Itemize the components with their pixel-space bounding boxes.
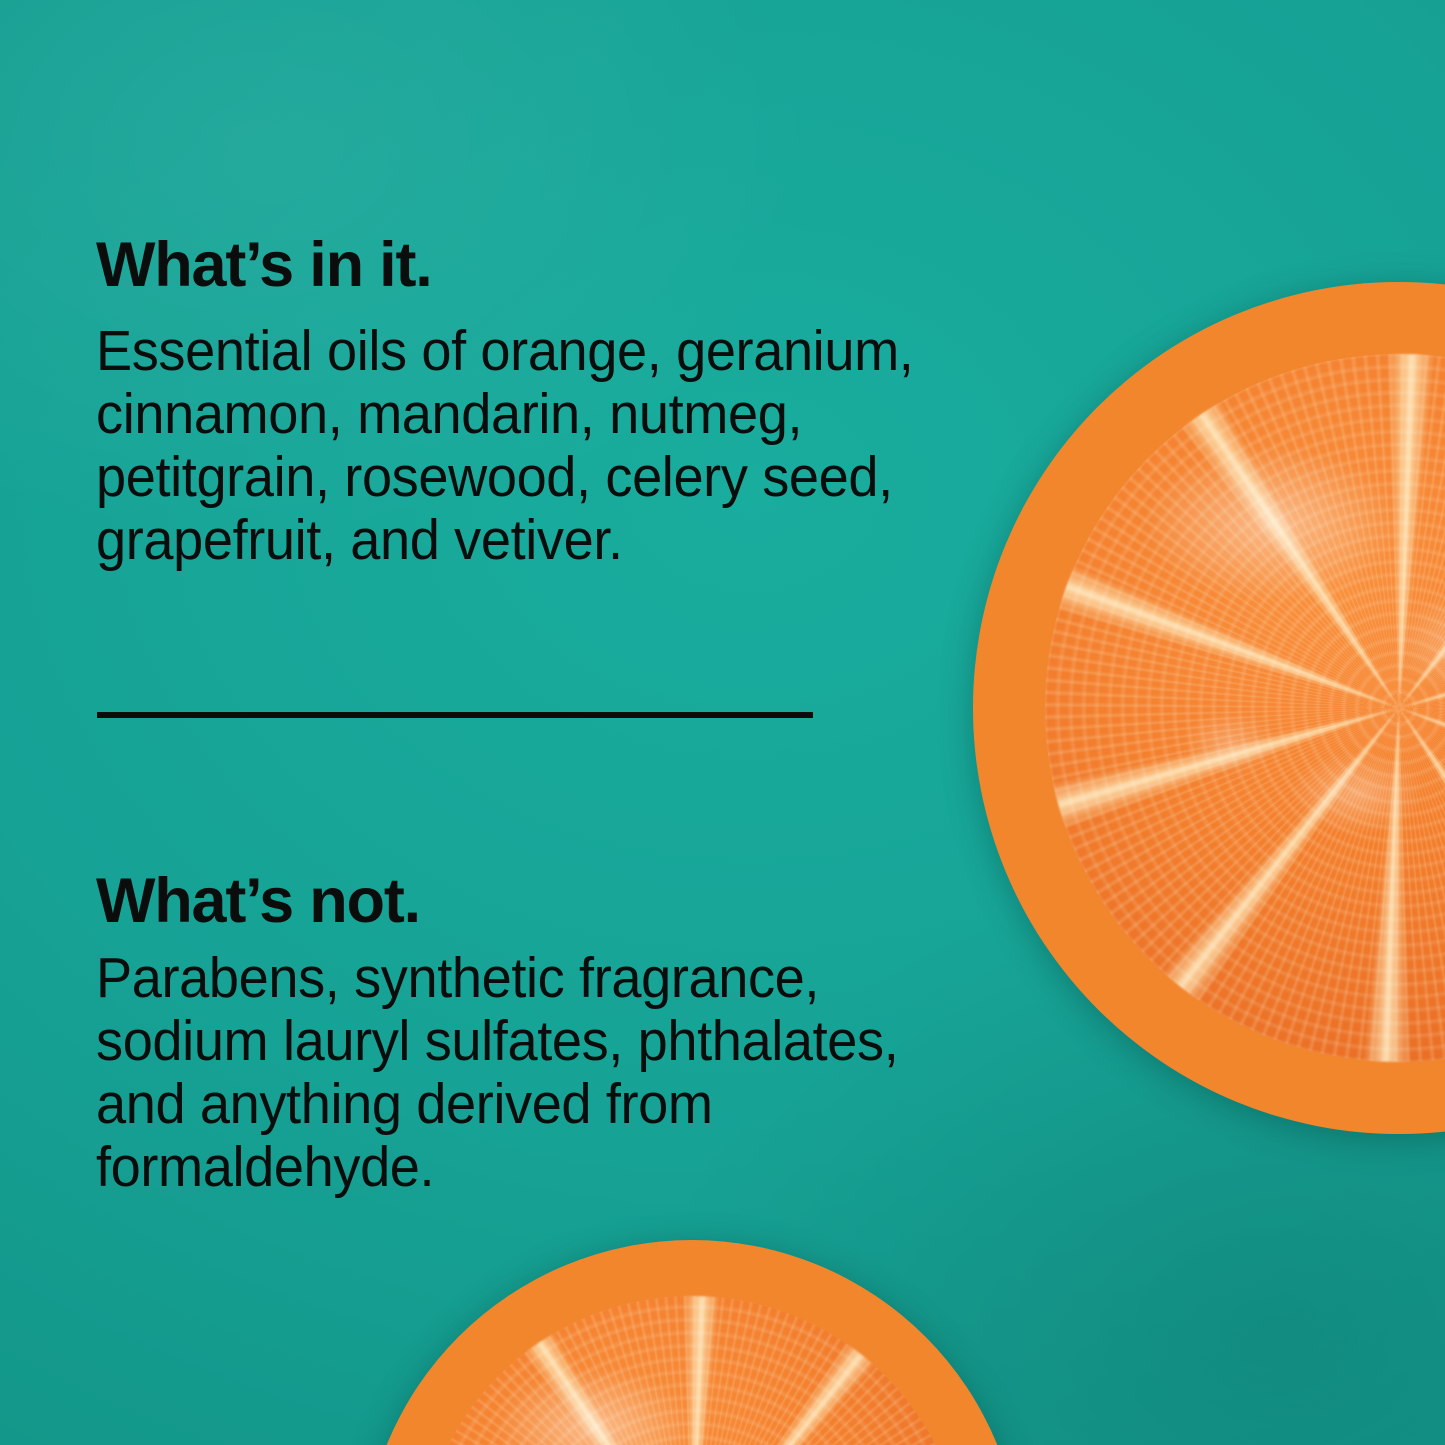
section-divider-rule <box>97 712 813 718</box>
whats-in-it-body: Essential oils of orange, geranium, cinn… <box>96 320 951 572</box>
whats-in-it-heading: What’s in it. <box>96 234 432 297</box>
whats-not-body: Parabens, synthetic fragrance, sodium la… <box>96 947 980 1199</box>
product-ingredients-card: What’s in it. Essential oils of orange, … <box>0 0 1445 1445</box>
text-column: What’s in it. Essential oils of orange, … <box>96 0 976 1445</box>
whats-not-heading: What’s not. <box>96 870 420 933</box>
